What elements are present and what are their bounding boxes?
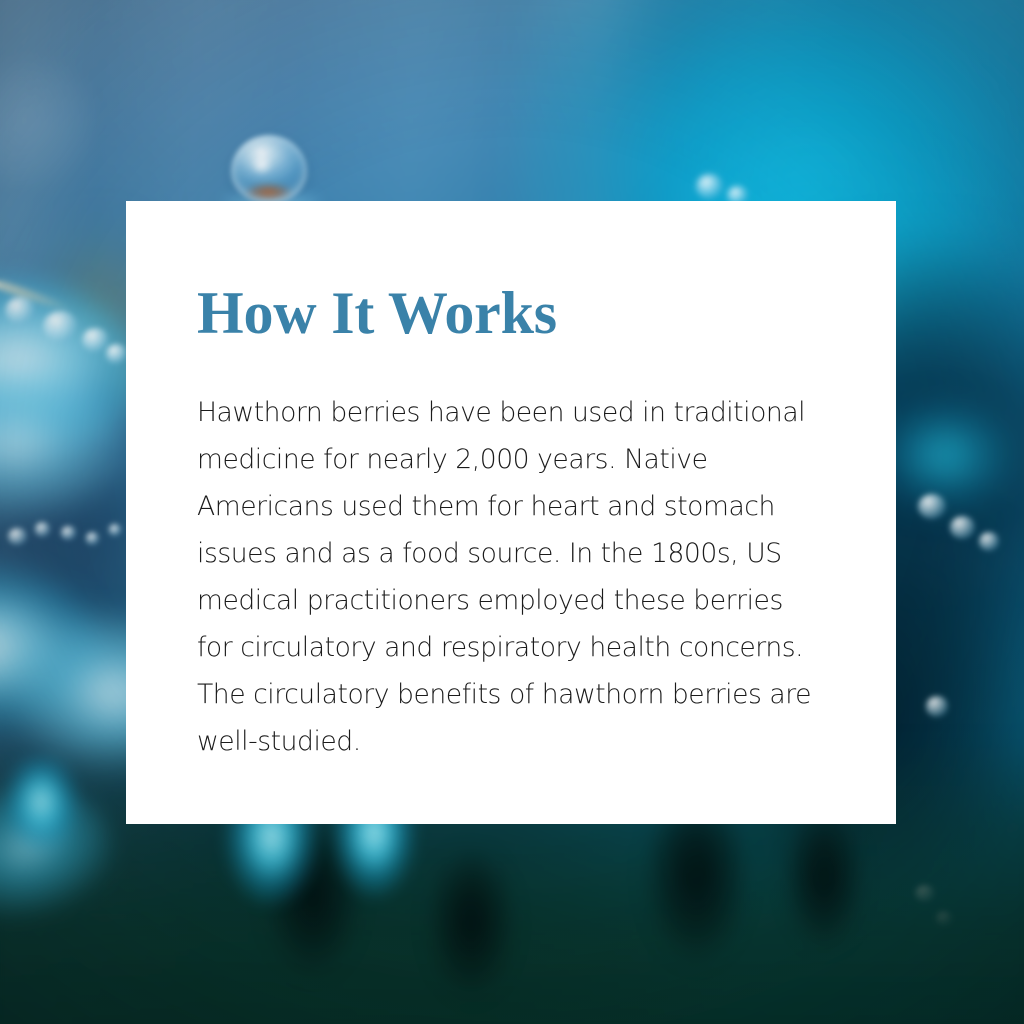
dew-bead	[43, 311, 78, 342]
dew-bead	[926, 696, 949, 716]
body-paragraph: Hawthorn berries have been used in tradi…	[197, 343, 824, 765]
small-droplet	[696, 174, 723, 199]
cyan-petal-tip	[0, 758, 82, 881]
dew-bead	[82, 328, 109, 353]
dew-bead	[918, 494, 947, 520]
dew-bead	[61, 526, 75, 539]
dew-bead	[106, 344, 126, 363]
dew-bead	[86, 532, 99, 544]
droplet-amber-reflection	[246, 184, 291, 199]
poster-canvas: How It Works Hawthorn berries have been …	[0, 0, 1024, 1024]
dew-bead	[35, 522, 50, 536]
page-title: How It Works	[197, 283, 824, 343]
dark-petal-gap	[778, 809, 870, 963]
dark-petal-gap	[420, 850, 522, 1014]
dew-bead	[5, 297, 35, 324]
dew-bead	[8, 528, 26, 544]
dew-bead	[950, 516, 975, 539]
content-card: How It Works Hawthorn berries have been …	[126, 201, 896, 824]
dew-bead	[109, 524, 121, 535]
